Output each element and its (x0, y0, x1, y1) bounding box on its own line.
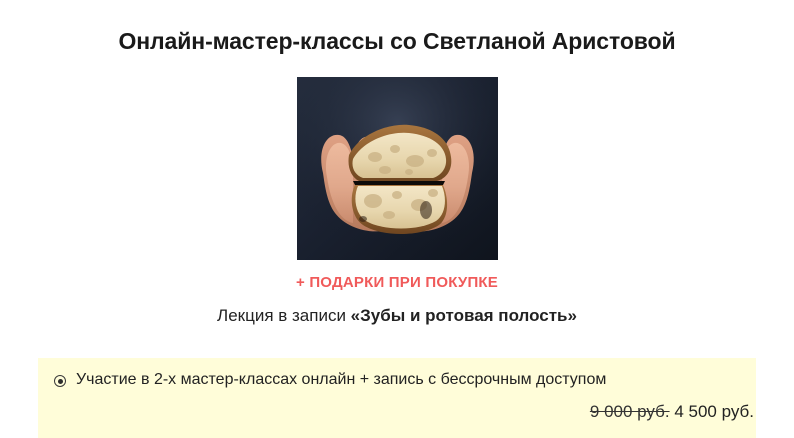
offer-option-item[interactable]: Участие в 2-х мастер-классах онлайн + за… (54, 370, 740, 390)
gift-promo-text: + ПОДАРКИ ПРИ ПОКУПКЕ (0, 274, 794, 291)
lecture-title: «Зубы и ротовая полость» (351, 306, 577, 325)
price-old: 9 000 руб. (590, 402, 670, 421)
lecture-prefix: Лекция в записи (217, 306, 351, 325)
lecture-bonus-text: Лекция в записи «Зубы и ротовая полость» (0, 306, 794, 326)
offer-option-box[interactable]: Участие в 2-х мастер-классах онлайн + за… (38, 358, 756, 438)
radio-selected-icon[interactable] (54, 375, 66, 387)
offer-page: Онлайн-мастер-классы со Светланой Аристо… (0, 0, 794, 438)
product-photo (297, 77, 498, 260)
offer-option-label: Участие в 2-х мастер-классах онлайн + за… (76, 370, 606, 390)
price-new: 4 500 руб. (674, 402, 754, 421)
offer-row[interactable]: Участие в 2-х мастер-классах онлайн + за… (38, 358, 756, 390)
price-row: 9 000 руб. 4 500 руб. (590, 402, 754, 422)
page-title: Онлайн-мастер-классы со Светланой Аристо… (0, 28, 794, 55)
hands-holding-bread-illustration (297, 77, 498, 260)
